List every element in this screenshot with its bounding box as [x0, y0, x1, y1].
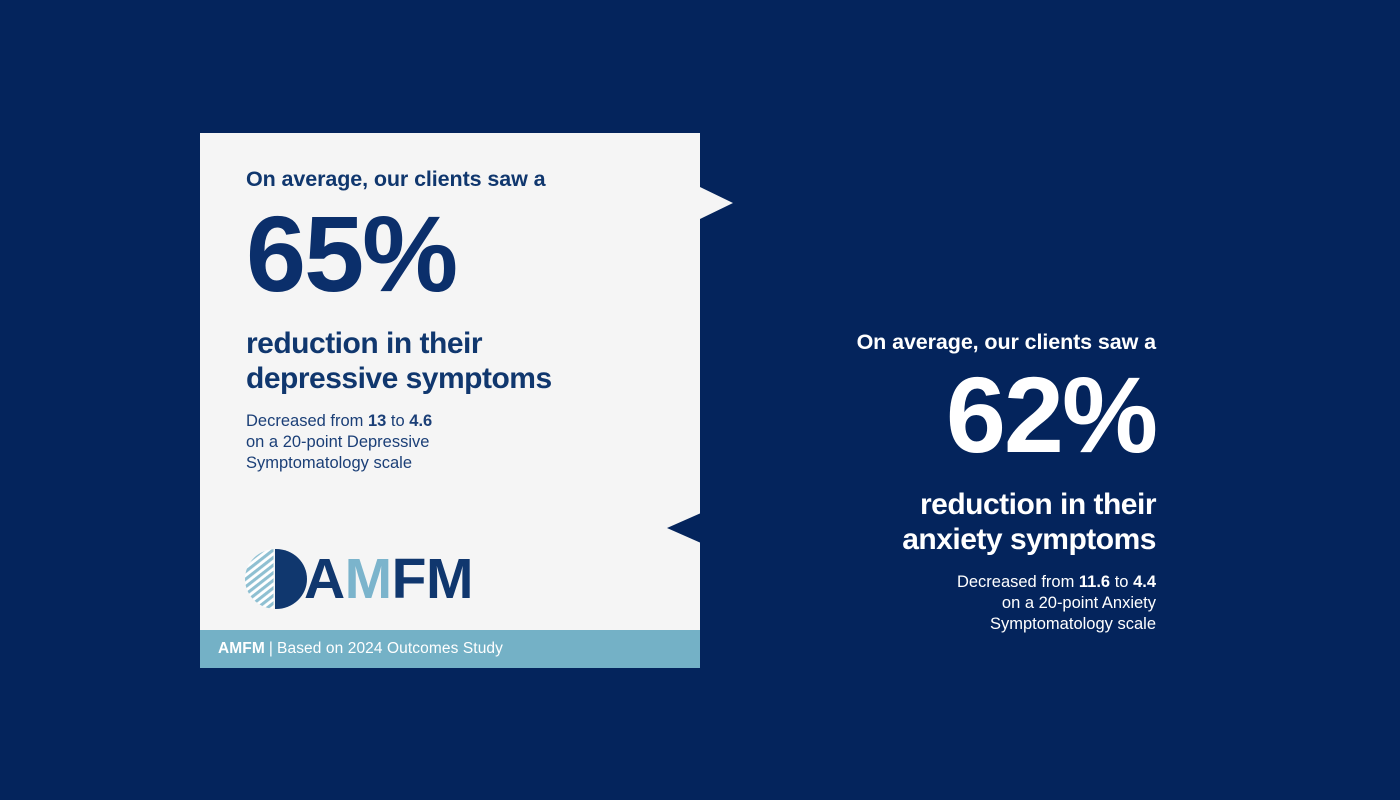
depression-detail-line2: on a 20-point Depressive — [246, 433, 429, 451]
anxiety-detail-line3: Symptomatology scale — [990, 615, 1156, 633]
amfm-letter-m1: M — [345, 547, 392, 611]
amfm-half-striped-circle-icon — [244, 548, 308, 610]
speech-bubble-notch-icon — [667, 513, 701, 543]
depression-headline: reduction in their depressive symptoms — [246, 327, 676, 397]
amfm-logo: AMFM — [244, 548, 473, 610]
anxiety-detail-text: Decreased from 11.6 to 4.4 on a 20-point… — [760, 572, 1156, 635]
depression-headline-line2: depressive symptoms — [246, 362, 552, 395]
amfm-letter-m2: M — [426, 547, 473, 611]
source-footer-bar: AMFM|Based on 2024 Outcomes Study — [200, 630, 700, 668]
anxiety-detail-middle: to — [1110, 573, 1133, 591]
depression-eyebrow-text: On average, our clients saw a — [246, 167, 676, 193]
footer-brand-label: AMFM — [218, 640, 265, 657]
depression-detail-middle: to — [386, 412, 409, 430]
depression-post-value: 4.6 — [409, 412, 432, 430]
amfm-letter-a: A — [304, 547, 345, 611]
speech-bubble-tail-icon — [700, 187, 733, 219]
anxiety-headline-line2: anxiety symptoms — [902, 523, 1156, 556]
depression-detail-text: Decreased from 13 to 4.6 on a 20-point D… — [246, 411, 676, 474]
anxiety-stat-value: 62% — [760, 364, 1156, 467]
depression-baseline-value: 13 — [368, 412, 386, 430]
anxiety-stat-panel: On average, our clients saw a 62% reduct… — [760, 330, 1156, 635]
footer-source-label: Based on 2024 Outcomes Study — [277, 640, 503, 657]
depression-card-body: On average, our clients saw a 65% reduct… — [246, 167, 676, 474]
amfm-letter-f: F — [392, 547, 426, 611]
anxiety-headline-line1: reduction in their — [920, 488, 1156, 521]
infographic-canvas: On average, our clients saw a 65% reduct… — [0, 0, 1400, 800]
depression-detail-line3: Symptomatology scale — [246, 454, 412, 472]
footer-divider-icon: | — [265, 640, 277, 658]
source-footer-text: AMFM|Based on 2024 Outcomes Study — [200, 640, 503, 658]
depression-detail-prefix: Decreased from — [246, 412, 368, 430]
anxiety-baseline-value: 11.6 — [1079, 573, 1110, 591]
anxiety-detail-prefix: Decreased from — [957, 573, 1079, 591]
amfm-logo-wordmark: AMFM — [304, 551, 473, 608]
anxiety-detail-line2: on a 20-point Anxiety — [1002, 594, 1156, 612]
anxiety-headline: reduction in their anxiety symptoms — [760, 488, 1156, 558]
anxiety-eyebrow-text: On average, our clients saw a — [760, 330, 1156, 356]
depression-headline-line1: reduction in their — [246, 327, 482, 360]
depression-stat-value: 65% — [246, 203, 676, 306]
anxiety-post-value: 4.4 — [1133, 573, 1156, 591]
